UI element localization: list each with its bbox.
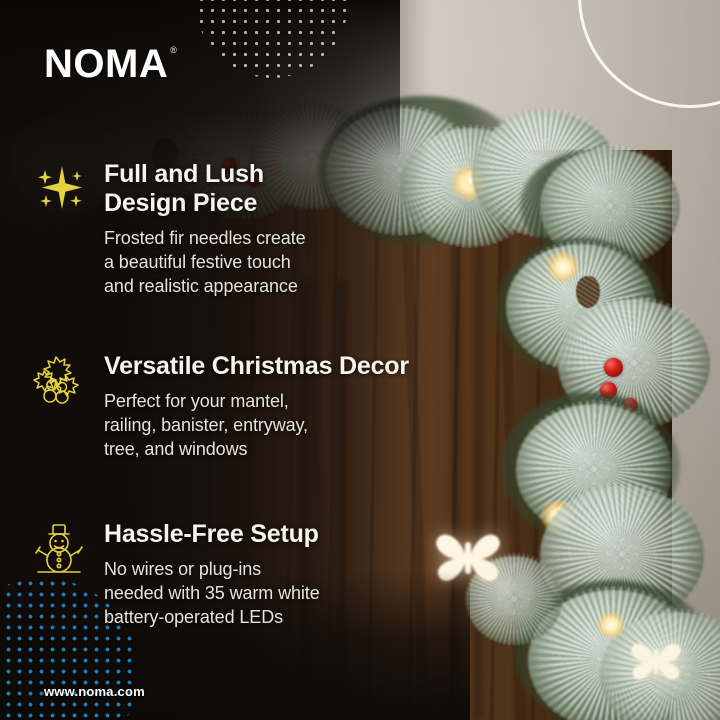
content-overlay: NOMA ® Full and Lush Design Piece Fr [0,0,720,720]
feature-block-versatile-decor: Versatile Christmas Decor Perfect for yo… [30,352,409,462]
feature-title: Versatile Christmas Decor [104,352,409,381]
feature-body: No wires or plug-ins needed with 35 warm… [104,558,320,630]
feature-block-hassle-free-setup: Hassle-Free Setup No wires or plug-ins n… [30,520,320,630]
snowman-icon [30,520,88,576]
holly-icon [30,352,88,408]
brand-logo: NOMA ® [44,44,177,84]
feature-body: Frosted fir needles create a beautiful f… [104,227,306,299]
feature-text: Full and Lush Design Piece Frosted fir n… [104,160,306,299]
website-url[interactable]: www.noma.com [44,684,145,699]
logo-wordmark: NOMA [44,44,168,84]
product-feature-graphic: NOMA ® Full and Lush Design Piece Fr [0,0,720,720]
registered-trademark-icon: ® [170,46,177,55]
feature-text: Versatile Christmas Decor Perfect for yo… [104,352,409,462]
feature-title: Full and Lush Design Piece [104,160,306,218]
feature-title: Hassle-Free Setup [104,520,320,549]
feature-body: Perfect for your mantel, railing, banist… [104,390,409,462]
sparkle-icon [30,160,88,216]
feature-text: Hassle-Free Setup No wires or plug-ins n… [104,520,320,630]
feature-block-full-and-lush: Full and Lush Design Piece Frosted fir n… [30,160,306,299]
